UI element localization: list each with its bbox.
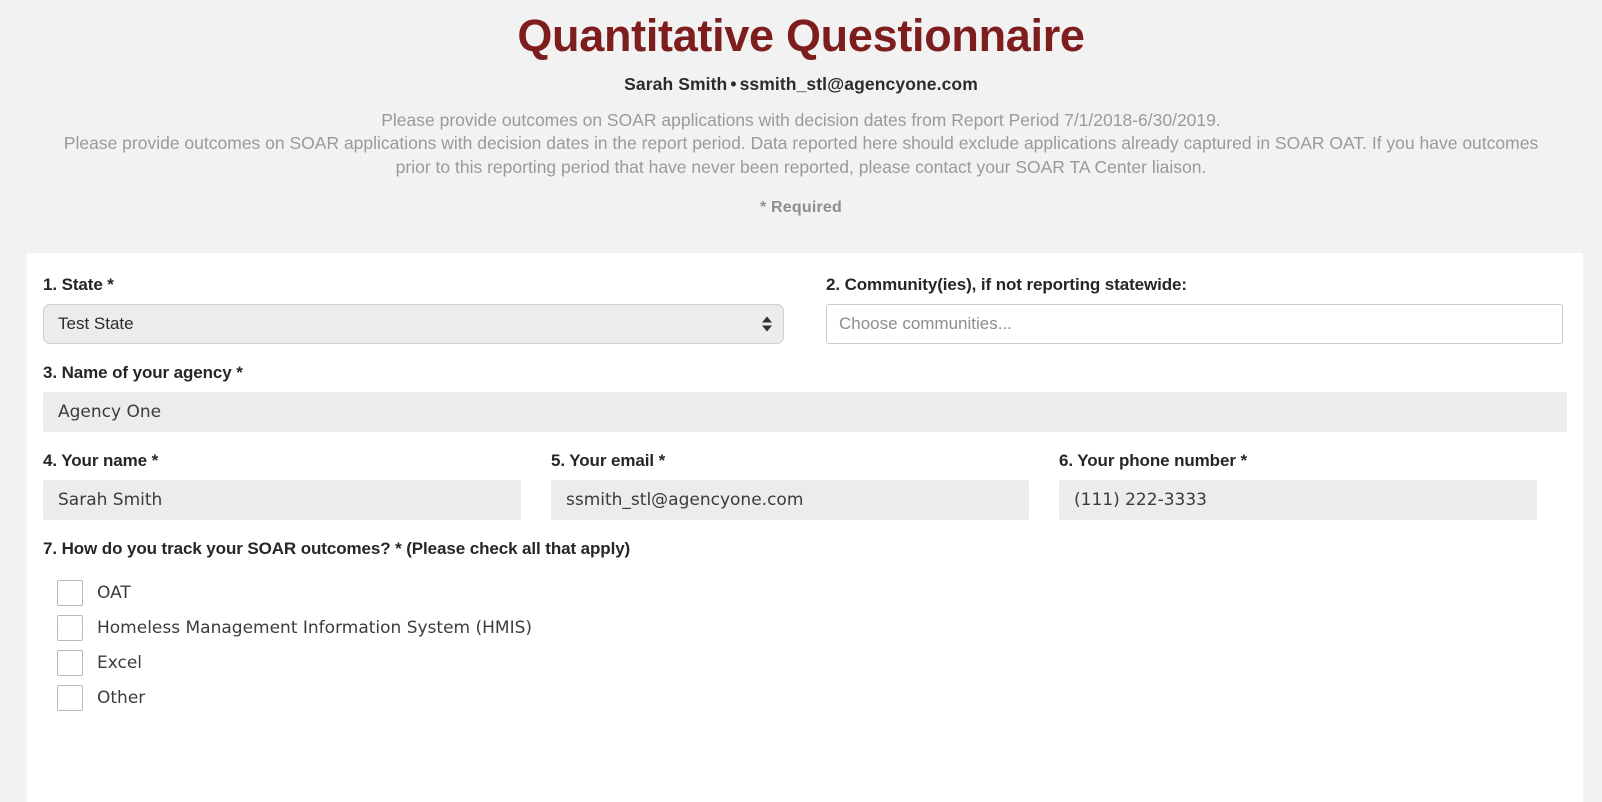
question-6-label: 6. Your phone number * — [1059, 451, 1537, 471]
checkbox-excel[interactable] — [57, 650, 83, 676]
checkbox-excel-label[interactable]: Excel — [97, 653, 142, 673]
question-4: 4. Your name * Sarah Smith — [43, 451, 521, 520]
intro-line-2: Please provide outcomes on SOAR applicat… — [61, 132, 1541, 179]
question-3: 3. Name of your agency * Agency One — [43, 363, 1567, 432]
state-select-value: Test State — [58, 314, 134, 334]
question-5: 5. Your email * ssmith_stl@agencyone.com — [551, 451, 1029, 520]
your-email-input[interactable]: ssmith_stl@agencyone.com — [551, 480, 1029, 520]
form-row-2: 3. Name of your agency * Agency One — [43, 363, 1567, 432]
question-1-label: 1. State * — [43, 275, 784, 295]
question-3-label: 3. Name of your agency * — [43, 363, 1567, 383]
checkbox-hmis-label[interactable]: Homeless Management Information System (… — [97, 618, 532, 638]
list-item[interactable]: Homeless Management Information System (… — [43, 610, 1567, 645]
state-select[interactable]: Test State — [43, 304, 784, 344]
list-item[interactable]: Excel — [43, 645, 1567, 680]
your-phone-input[interactable]: (111) 222-3333 — [1059, 480, 1537, 520]
question-7-label: 7. How do you track your SOAR outcomes? … — [43, 539, 1567, 559]
user-byline: Sarah Smith•ssmith_stl@agencyone.com — [0, 74, 1602, 95]
required-note: * Required — [0, 199, 1602, 217]
user-email: ssmith_stl@agencyone.com — [740, 74, 978, 94]
checkbox-other-label[interactable]: Other — [97, 688, 145, 708]
page-root: Quantitative Questionnaire Sarah Smith•s… — [0, 0, 1602, 802]
your-name-value: Sarah Smith — [58, 490, 162, 510]
page-header: Quantitative Questionnaire Sarah Smith•s… — [0, 0, 1602, 217]
your-name-input[interactable]: Sarah Smith — [43, 480, 521, 520]
checkbox-oat-label[interactable]: OAT — [97, 583, 131, 603]
question-2: 2. Community(ies), if not reporting stat… — [826, 275, 1563, 344]
user-name: Sarah Smith — [624, 74, 727, 94]
question-5-label: 5. Your email * — [551, 451, 1029, 471]
question-4-label: 4. Your name * — [43, 451, 521, 471]
byline-separator: • — [727, 74, 739, 94]
your-email-value: ssmith_stl@agencyone.com — [566, 490, 803, 510]
communities-placeholder: Choose communities... — [839, 314, 1012, 334]
checkbox-hmis[interactable] — [57, 615, 83, 641]
agency-name-input[interactable]: Agency One — [43, 392, 1567, 432]
track-outcomes-checkbox-group: OAT Homeless Management Information Syst… — [43, 575, 1567, 715]
question-6: 6. Your phone number * (111) 222-3333 — [1059, 451, 1537, 520]
list-item[interactable]: Other — [43, 680, 1567, 715]
page-title: Quantitative Questionnaire — [0, 10, 1602, 62]
form-row-3: 4. Your name * Sarah Smith 5. Your email… — [43, 451, 1567, 520]
updown-arrows-icon — [762, 317, 772, 332]
question-2-label: 2. Community(ies), if not reporting stat… — [826, 275, 1563, 295]
your-phone-value: (111) 222-3333 — [1074, 490, 1207, 510]
form-row-1: 1. State * Test State 2. Community(ies),… — [43, 275, 1567, 344]
form-card: 1. State * Test State 2. Community(ies),… — [27, 253, 1583, 802]
question-7: 7. How do you track your SOAR outcomes? … — [43, 539, 1567, 715]
communities-multiselect[interactable]: Choose communities... — [826, 304, 1563, 344]
list-item[interactable]: OAT — [43, 575, 1567, 610]
agency-name-value: Agency One — [58, 402, 161, 422]
intro-text: Please provide outcomes on SOAR applicat… — [31, 109, 1571, 180]
checkbox-oat[interactable] — [57, 580, 83, 606]
intro-line-1: Please provide outcomes on SOAR applicat… — [61, 109, 1541, 133]
question-1: 1. State * Test State — [43, 275, 784, 344]
checkbox-other[interactable] — [57, 685, 83, 711]
